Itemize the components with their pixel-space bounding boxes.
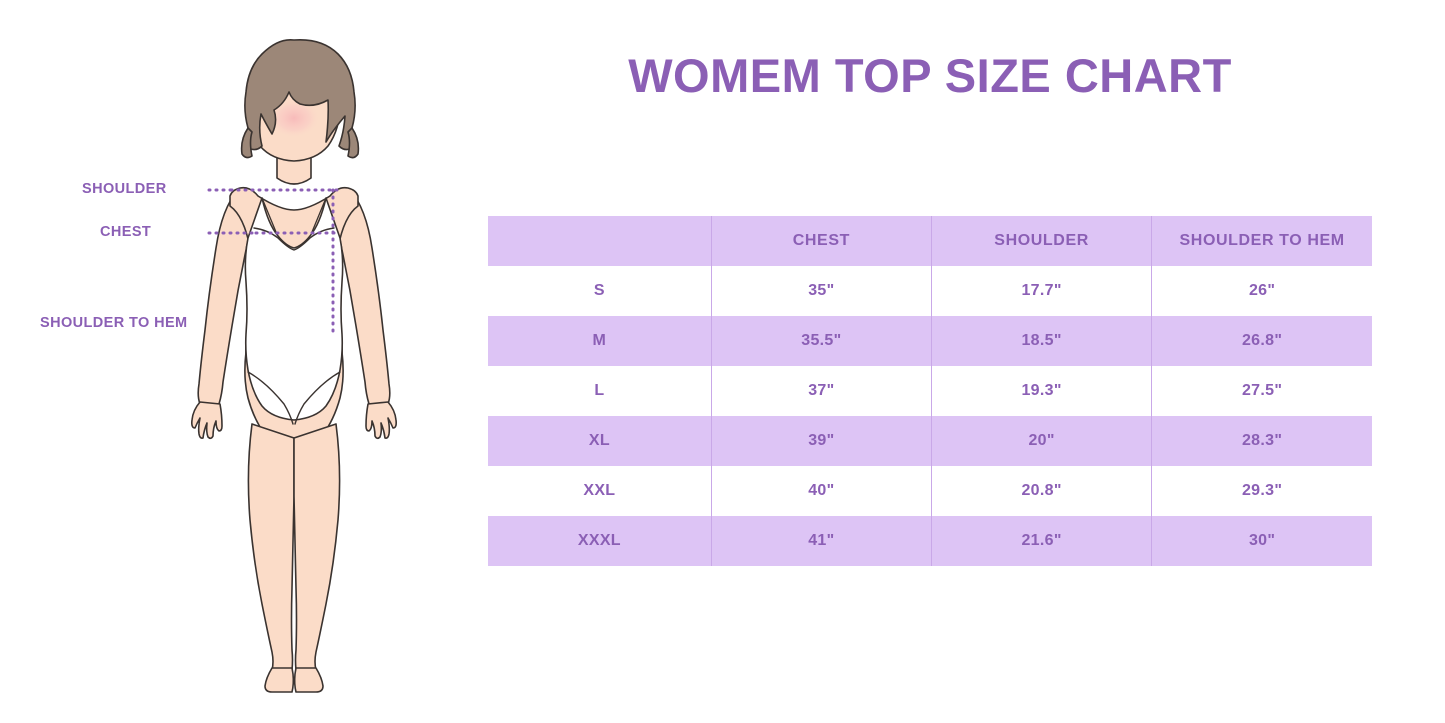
cell-shoulder: 19.3" <box>931 366 1151 416</box>
table-row: XXXL 41" 21.6" 30" <box>488 516 1372 566</box>
right-leg-shape <box>294 424 340 670</box>
cell-chest: 35.5" <box>711 316 931 366</box>
cell-shoulder-to-hem: 26.8" <box>1152 316 1372 366</box>
hair-left-wisp-shape <box>242 128 252 158</box>
cell-chest: 40" <box>711 466 931 516</box>
page-title: WOMEM TOP SIZE CHART <box>480 48 1380 103</box>
row-size-label: M <box>488 316 711 366</box>
column-header-chest: CHEST <box>711 216 931 266</box>
cell-shoulder-to-hem: 26" <box>1152 266 1372 316</box>
table-row: XXL 40" 20.8" 29.3" <box>488 466 1372 516</box>
size-chart-table: CHEST SHOULDER SHOULDER TO HEM S 35" 17.… <box>488 216 1372 566</box>
hair-right-wisp-shape <box>348 128 358 158</box>
table-row: M 35.5" 18.5" 26.8" <box>488 316 1372 366</box>
cell-shoulder-to-hem: 27.5" <box>1152 366 1372 416</box>
size-chart-page: WOMEM TOP SIZE CHART <box>0 0 1445 723</box>
left-leg-shape <box>248 424 294 670</box>
left-hand-shape <box>192 402 222 438</box>
cell-chest: 41" <box>711 516 931 566</box>
cell-shoulder: 18.5" <box>931 316 1151 366</box>
row-size-label: S <box>488 266 711 316</box>
cell-shoulder-to-hem: 29.3" <box>1152 466 1372 516</box>
row-size-label: XXL <box>488 466 711 516</box>
cell-shoulder-to-hem: 28.3" <box>1152 416 1372 466</box>
cell-shoulder-to-hem: 30" <box>1152 516 1372 566</box>
shoulder-measure-label: SHOULDER <box>82 181 167 197</box>
column-header-size <box>488 216 711 266</box>
column-header-shoulder-to-hem: SHOULDER TO HEM <box>1152 216 1372 266</box>
row-size-label: XL <box>488 416 711 466</box>
cell-chest: 37" <box>711 366 931 416</box>
left-foot-shape <box>265 668 293 692</box>
cell-chest: 39" <box>711 416 931 466</box>
table-row: L 37" 19.3" 27.5" <box>488 366 1372 416</box>
shoulder-to-hem-measure-label: SHOULDER TO HEM <box>40 315 188 331</box>
cell-shoulder: 21.6" <box>931 516 1151 566</box>
row-size-label: XXXL <box>488 516 711 566</box>
chest-measure-label: CHEST <box>100 224 151 240</box>
figure-illustration-panel: SHOULDER CHEST SHOULDER TO HEM <box>0 0 470 723</box>
row-size-label: L <box>488 366 711 416</box>
table-row: S 35" 17.7" 26" <box>488 266 1372 316</box>
cell-shoulder: 17.7" <box>931 266 1151 316</box>
cell-shoulder: 20" <box>931 416 1151 466</box>
cell-shoulder: 20.8" <box>931 466 1151 516</box>
right-foot-shape <box>295 668 323 692</box>
right-hand-shape <box>366 402 396 438</box>
female-body-figure-icon <box>0 0 470 723</box>
table-header-row: CHEST SHOULDER SHOULDER TO HEM <box>488 216 1372 266</box>
column-header-shoulder: SHOULDER <box>931 216 1151 266</box>
cell-chest: 35" <box>711 266 931 316</box>
table-row: XL 39" 20" 28.3" <box>488 416 1372 466</box>
